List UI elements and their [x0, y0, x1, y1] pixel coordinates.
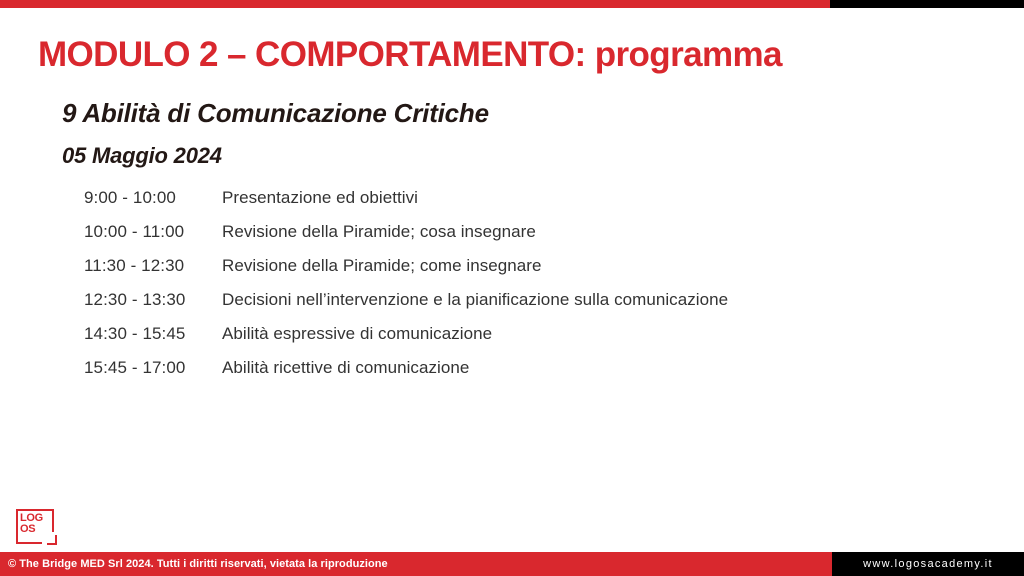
top-accent-bar-red-segment — [0, 0, 830, 8]
schedule-time: 15:45 - 17:00 — [84, 358, 210, 378]
schedule-description: Decisioni nell’intervenzione e la pianif… — [210, 290, 728, 310]
schedule-description: Revisione della Piramide; cosa insegnare — [210, 222, 536, 242]
table-row: 9:00 - 10:00 Presentazione ed obiettivi — [84, 188, 964, 222]
schedule-description: Abilità espressive di comunicazione — [210, 324, 492, 344]
page-title: MODULO 2 – COMPORTAMENTO: programma — [38, 36, 782, 75]
schedule-time: 10:00 - 11:00 — [84, 222, 210, 242]
logo-corner-notch-icon — [42, 532, 55, 545]
footer-bar: © The Bridge MED Srl 2024. Tutti i dirit… — [0, 552, 1024, 576]
logos-logo: LOG OS — [16, 509, 54, 544]
schedule-time: 12:30 - 13:30 — [84, 290, 210, 310]
schedule-time: 11:30 - 12:30 — [84, 256, 210, 276]
table-row: 14:30 - 15:45 Abilità espressive di comu… — [84, 324, 964, 358]
table-row: 10:00 - 11:00 Revisione della Piramide; … — [84, 222, 964, 256]
footer-website-text: www.logosacademy.it — [863, 558, 993, 570]
schedule-time: 9:00 - 10:00 — [84, 188, 210, 208]
top-accent-bar — [0, 0, 1024, 8]
schedule-description: Presentazione ed obiettivi — [210, 188, 418, 208]
page-subtitle: 9 Abilità di Comunicazione Critiche — [62, 98, 489, 129]
top-accent-bar-black-segment — [830, 0, 1024, 8]
schedule-time: 14:30 - 15:45 — [84, 324, 210, 344]
table-row: 12:30 - 13:30 Decisioni nell’intervenzio… — [84, 290, 964, 324]
page-date: 05 Maggio 2024 — [62, 143, 222, 169]
footer-website-segment: www.logosacademy.it — [832, 552, 1024, 576]
table-row: 11:30 - 12:30 Revisione della Piramide; … — [84, 256, 964, 290]
footer-copyright-text: © The Bridge MED Srl 2024. Tutti i dirit… — [0, 558, 388, 570]
footer-copyright-segment: © The Bridge MED Srl 2024. Tutti i dirit… — [0, 552, 832, 576]
table-row: 15:45 - 17:00 Abilità ricettive di comun… — [84, 358, 964, 392]
schedule-description: Abilità ricettive di comunicazione — [210, 358, 469, 378]
slide-canvas: MODULO 2 – COMPORTAMENTO: programma 9 Ab… — [0, 0, 1024, 576]
schedule-list: 9:00 - 10:00 Presentazione ed obiettivi … — [84, 188, 964, 392]
schedule-description: Revisione della Piramide; come insegnare — [210, 256, 542, 276]
